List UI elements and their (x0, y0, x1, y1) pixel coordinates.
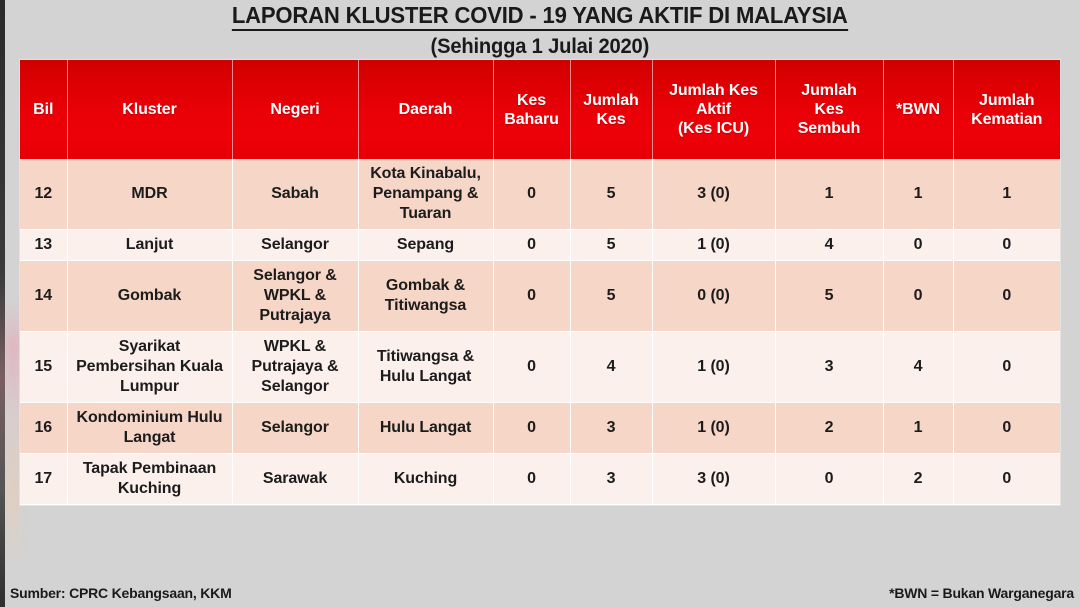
cell-daerah: Titiwangsa & Hulu Langat (358, 332, 493, 403)
cell-kes-aktif: 1 (0) (652, 230, 775, 261)
cell-kes-baharu: 0 (493, 332, 570, 403)
left-edge-strip (0, 0, 5, 607)
col-header-jumlah-kes: Jumlah Kes (570, 60, 652, 159)
cell-negeri: Sabah (232, 159, 358, 230)
cell-kes-sembuh: 0 (775, 454, 883, 505)
cell-kluster: Lanjut (67, 230, 232, 261)
cell-kluster: Gombak (67, 261, 232, 332)
footer-bar: Sumber: CPRC Kebangsaan, KKM *BWN = Buka… (0, 580, 1080, 607)
header-text-bil-1: Bil (33, 101, 53, 118)
table-header: Bil Kluster Negeri Daerah Kes Baharu Jum… (20, 60, 1060, 159)
col-header-kes-sembuh: Jumlah Kes Sembuh (775, 60, 883, 159)
cell-bil: 14 (20, 261, 67, 332)
col-header-kes-aktif: Jumlah Kes Aktif (Kes ICU) (652, 60, 775, 159)
cell-daerah: Kuching (358, 454, 493, 505)
cell-bwn: 2 (883, 454, 953, 505)
table-body: 12 MDR Sabah Kota Kinabalu, Penampang & … (20, 159, 1060, 505)
cell-kematian: 0 (953, 261, 1060, 332)
col-header-kluster: Kluster (67, 60, 232, 159)
cell-kes-baharu: 0 (493, 454, 570, 505)
cell-kes-aktif: 1 (0) (652, 332, 775, 403)
cell-kes-sembuh: 1 (775, 159, 883, 230)
cell-kluster: Tapak Pembinaan Kuching (67, 454, 232, 505)
header-text-kes-aktif-2: Aktif (696, 101, 731, 118)
table-row: 14 Gombak Selangor & WPKL & Putrajaya Go… (20, 261, 1060, 332)
cell-kes-aktif: 0 (0) (652, 261, 775, 332)
header-text-jumlah-kes-1: Jumlah (583, 92, 638, 109)
cell-kes-sembuh: 4 (775, 230, 883, 261)
cell-kes-aktif: 3 (0) (652, 454, 775, 505)
header-text-kluster-1: Kluster (122, 101, 176, 118)
cell-kematian: 0 (953, 332, 1060, 403)
cell-kes-sembuh: 3 (775, 332, 883, 403)
cell-jumlah-kes: 3 (570, 454, 652, 505)
cell-jumlah-kes: 5 (570, 261, 652, 332)
footer-legend: *BWN = Bukan Warganegara (889, 585, 1074, 601)
cell-negeri: Selangor (232, 230, 358, 261)
cell-kematian: 1 (953, 159, 1060, 230)
header-text-kematian-1: Jumlah (979, 92, 1034, 109)
table-row: 12 MDR Sabah Kota Kinabalu, Penampang & … (20, 159, 1060, 230)
cell-bwn: 4 (883, 332, 953, 403)
cell-bil: 13 (20, 230, 67, 261)
col-header-kematian: Jumlah Kematian (953, 60, 1060, 159)
table-row: 17 Tapak Pembinaan Kuching Sarawak Kuchi… (20, 454, 1060, 505)
page-title: LAPORAN KLUSTER COVID - 19 YANG AKTIF DI… (0, 2, 1080, 62)
cell-kluster: Syarikat Pembersihan Kuala Lumpur (67, 332, 232, 403)
cell-daerah: Hulu Langat (358, 403, 493, 454)
cell-kes-baharu: 0 (493, 403, 570, 454)
cell-bil: 16 (20, 403, 67, 454)
header-text-kes-aktif-3: (Kes ICU) (678, 120, 749, 137)
cell-kes-baharu: 0 (493, 230, 570, 261)
cell-jumlah-kes: 5 (570, 159, 652, 230)
col-header-daerah: Daerah (358, 60, 493, 159)
header-row: Bil Kluster Negeri Daerah Kes Baharu Jum… (20, 60, 1060, 159)
cell-negeri: Selangor & WPKL & Putrajaya (232, 261, 358, 332)
header-text-kes-baharu-1: Kes (517, 92, 546, 109)
cell-kes-baharu: 0 (493, 261, 570, 332)
cell-bwn: 1 (883, 159, 953, 230)
cell-bwn: 1 (883, 403, 953, 454)
cell-jumlah-kes: 5 (570, 230, 652, 261)
cell-kluster: Kondominium Hulu Langat (67, 403, 232, 454)
footer-source: Sumber: CPRC Kebangsaan, KKM (10, 585, 232, 601)
cell-jumlah-kes: 3 (570, 403, 652, 454)
title-line-date: (Sehingga 1 Julai 2020) (431, 34, 650, 62)
header-text-kes-sembuh-3: Sembuh (798, 120, 861, 137)
cell-daerah: Sepang (358, 230, 493, 261)
cell-kes-baharu: 0 (493, 159, 570, 230)
slide-canvas: LAPORAN KLUSTER COVID - 19 YANG AKTIF DI… (0, 0, 1080, 607)
cell-negeri: Sarawak (232, 454, 358, 505)
header-text-bwn-1: *BWN (896, 101, 940, 118)
cell-daerah: Gombak & Titiwangsa (358, 261, 493, 332)
table-row: 15 Syarikat Pembersihan Kuala Lumpur WPK… (20, 332, 1060, 403)
header-text-kes-aktif-1: Jumlah Kes (669, 82, 758, 99)
cell-bil: 15 (20, 332, 67, 403)
title-line-main: LAPORAN KLUSTER COVID - 19 YANG AKTIF DI… (232, 2, 848, 31)
header-text-jumlah-kes-2: Kes (596, 111, 625, 128)
table-row: 16 Kondominium Hulu Langat Selangor Hulu… (20, 403, 1060, 454)
header-text-kematian-2: Kematian (971, 111, 1042, 128)
cell-kes-sembuh: 5 (775, 261, 883, 332)
table-row: 13 Lanjut Selangor Sepang 0 5 1 (0) 4 0 … (20, 230, 1060, 261)
cell-kes-aktif: 3 (0) (652, 159, 775, 230)
cell-negeri: Selangor (232, 403, 358, 454)
cell-kluster: MDR (67, 159, 232, 230)
cell-bil: 17 (20, 454, 67, 505)
cell-bwn: 0 (883, 261, 953, 332)
col-header-negeri: Negeri (232, 60, 358, 159)
cell-kematian: 0 (953, 230, 1060, 261)
col-header-bil: Bil (20, 60, 67, 159)
cell-bwn: 0 (883, 230, 953, 261)
cell-kematian: 0 (953, 454, 1060, 505)
cell-bil: 12 (20, 159, 67, 230)
col-header-bwn: *BWN (883, 60, 953, 159)
header-text-kes-sembuh-1: Jumlah (801, 82, 856, 99)
cell-jumlah-kes: 4 (570, 332, 652, 403)
cell-kes-aktif: 1 (0) (652, 403, 775, 454)
cell-kes-sembuh: 2 (775, 403, 883, 454)
cell-daerah: Kota Kinabalu, Penampang & Tuaran (358, 159, 493, 230)
header-text-kes-baharu-2: Baharu (504, 111, 559, 128)
cell-kematian: 0 (953, 403, 1060, 454)
active-clusters-table: Bil Kluster Negeri Daerah Kes Baharu Jum… (20, 60, 1060, 505)
col-header-kes-baharu: Kes Baharu (493, 60, 570, 159)
header-text-kes-sembuh-2: Kes (814, 101, 843, 118)
cell-negeri: WPKL & Putrajaya & Selangor (232, 332, 358, 403)
header-text-negeri-1: Negeri (270, 101, 319, 118)
header-text-daerah-1: Daerah (399, 101, 453, 118)
cluster-table-container: Bil Kluster Negeri Daerah Kes Baharu Jum… (20, 60, 1060, 505)
